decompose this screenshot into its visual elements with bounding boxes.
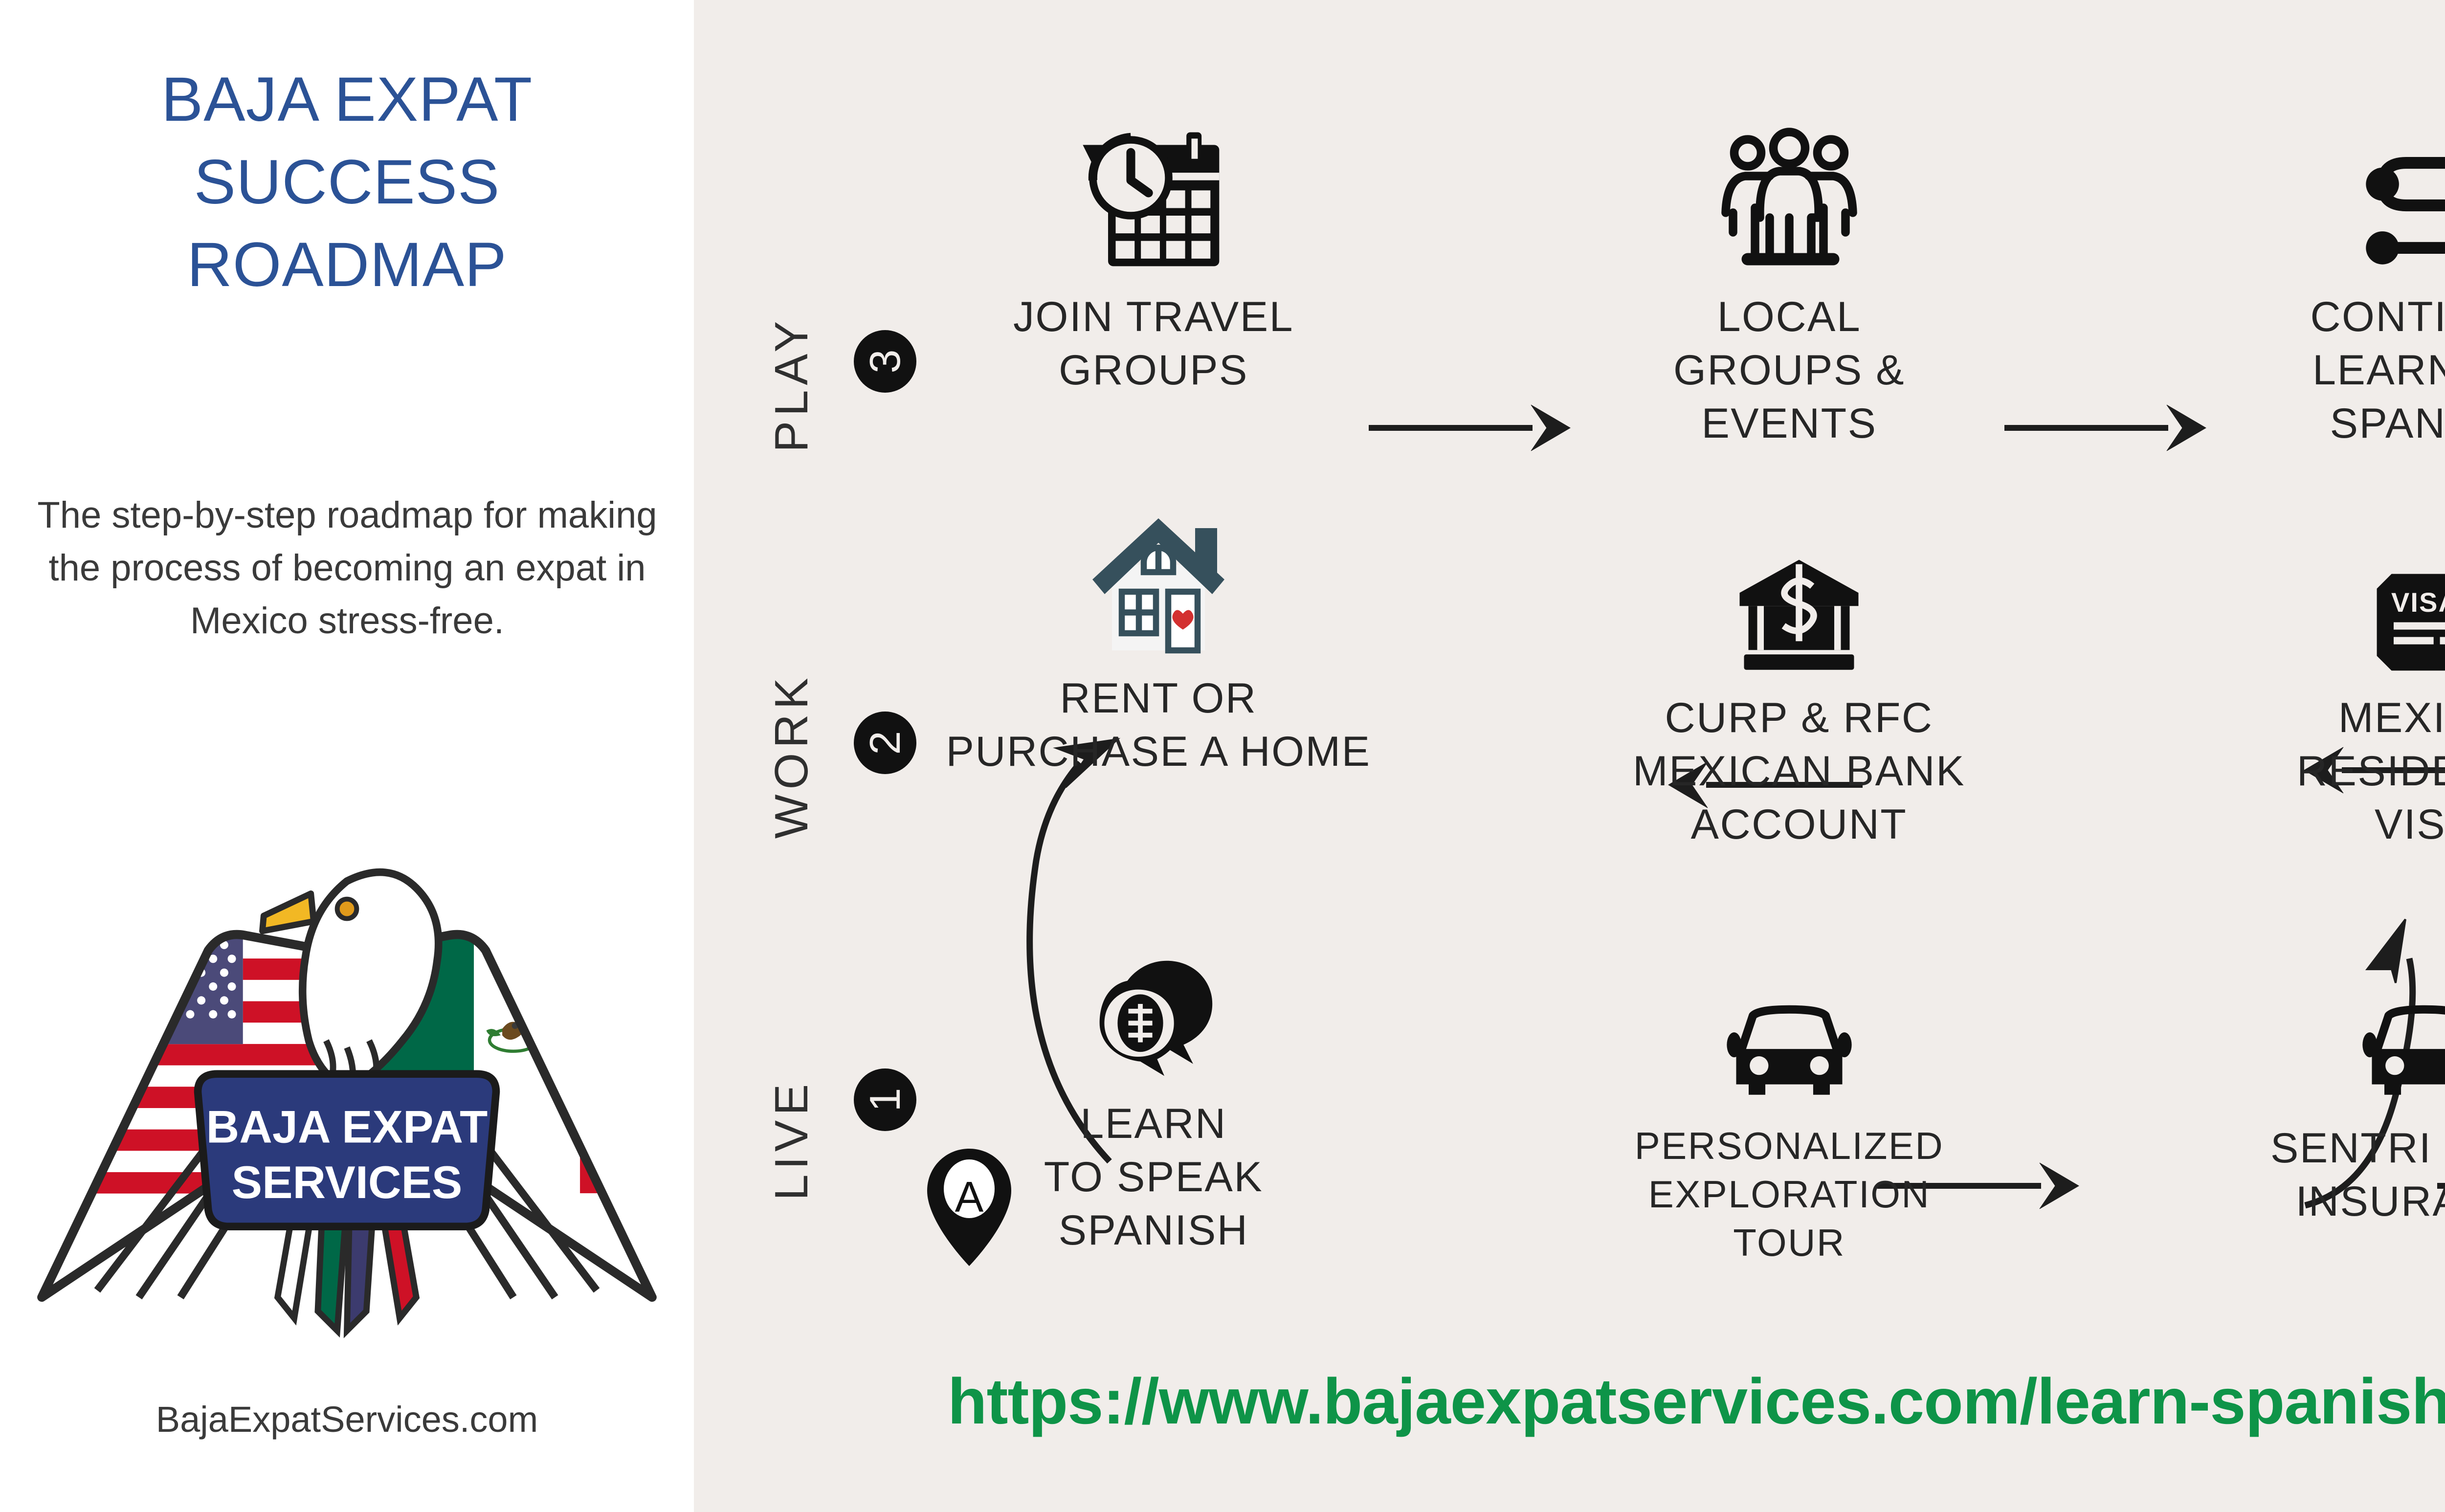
infographic-root: BAJA EXPAT SUCCESS ROADMAP The step-by-s… (0, 0, 2445, 1512)
card-label: PERSONALIZED EXPLORATION TOUR (1635, 1122, 1944, 1267)
left-panel: BAJA EXPAT SUCCESS ROADMAP The step-by-s… (0, 0, 694, 1512)
card-label: MEXICO RESIDENCY VISA (2297, 691, 2445, 852)
house-icon (1080, 494, 1237, 655)
card-sentri-car-insurance[interactable]: SENTRI & CAR INSURANCE (2210, 944, 2445, 1228)
row-label-play: PLAY (765, 247, 819, 452)
visa-document-icon: VISA (2373, 513, 2445, 675)
page-title-line-2: SUCCESS (0, 141, 694, 224)
card-label: JOIN TRAVEL GROUPS (1013, 290, 1294, 397)
card-join-travel-groups[interactable]: JOIN TRAVEL GROUPS (938, 112, 1369, 397)
route-path-icon (2352, 112, 2445, 274)
card-label: SENTRI & CAR INSURANCE (2270, 1122, 2445, 1228)
arrow-play-1-to-2 (1369, 405, 1570, 451)
people-group-icon (1716, 112, 1863, 274)
subtitle-text: The step-by-step roadmap for making the … (29, 489, 665, 647)
page-title: BAJA EXPAT SUCCESS ROADMAP (0, 59, 694, 307)
card-label: LEARN TO SPEAK SPANISH (1044, 1097, 1264, 1258)
logo-text-line1: BAJA EXPAT (206, 1101, 488, 1153)
card-rent-or-purchase-home[interactable]: RENT OR PURCHASE A HOME (899, 494, 1418, 778)
row-label-live: LIVE (765, 995, 819, 1201)
page-title-line-1: BAJA EXPAT (0, 59, 694, 141)
brand-logo: BAJA EXPAT SERVICES (0, 812, 694, 1330)
site-url-text: BajaExpatServices.com (0, 1399, 694, 1440)
step-badge-1: 1 (854, 1068, 916, 1131)
card-learn-to-speak-spanish[interactable]: LEARN TO SPEAK SPANISH (938, 919, 1369, 1258)
speech-bubble-translate-icon (1088, 919, 1220, 1081)
logo-shield: BAJA EXPAT SERVICES (198, 1074, 496, 1226)
page-title-line-3: ROADMAP (0, 224, 694, 307)
bank-dollar-icon (1733, 513, 1865, 675)
card-mexico-residency-visa[interactable]: VISA MEXICO RESIDENCY VISA (2210, 513, 2445, 852)
roadmap-panel: PLAY 3 WORK 2 LIVE 1 A B (694, 0, 2445, 1512)
footer-url[interactable]: https://www.bajaexpatservices.com/learn-… (694, 1364, 2445, 1438)
arrow-play-2-to-3 (2004, 405, 2206, 451)
logo-text-line2: SERVICES (232, 1156, 463, 1208)
card-label: LOCAL GROUPS & EVENTS (1673, 290, 1905, 451)
row-label-work: WORK (765, 633, 819, 839)
step-badge-3: 3 (854, 330, 916, 393)
card-label: CONTINUE LEARNING SPANISH (2310, 290, 2445, 451)
card-personalized-exploration-tour[interactable]: PERSONALIZED EXPLORATION TOUR (1574, 944, 2004, 1267)
card-continue-learning-spanish[interactable]: CONTINUE LEARNING SPANISH (2210, 112, 2445, 451)
card-label: RENT OR PURCHASE A HOME (946, 672, 1371, 778)
calendar-clock-icon (1078, 112, 1229, 274)
card-local-groups-events[interactable]: LOCAL GROUPS & EVENTS (1574, 112, 2004, 451)
card-curp-rfc-bank-account[interactable]: CURP & RFC MEXICAN BANK ACCOUNT (1584, 513, 2014, 852)
eagle-logo-svg: BAJA EXPAT SERVICES (0, 812, 694, 1339)
car-front-icon (1721, 944, 1858, 1105)
card-label: CURP & RFC MEXICAN BANK ACCOUNT (1633, 691, 1965, 852)
svg-text:VISA: VISA (2391, 587, 2445, 618)
car-front-icon (2356, 944, 2445, 1105)
